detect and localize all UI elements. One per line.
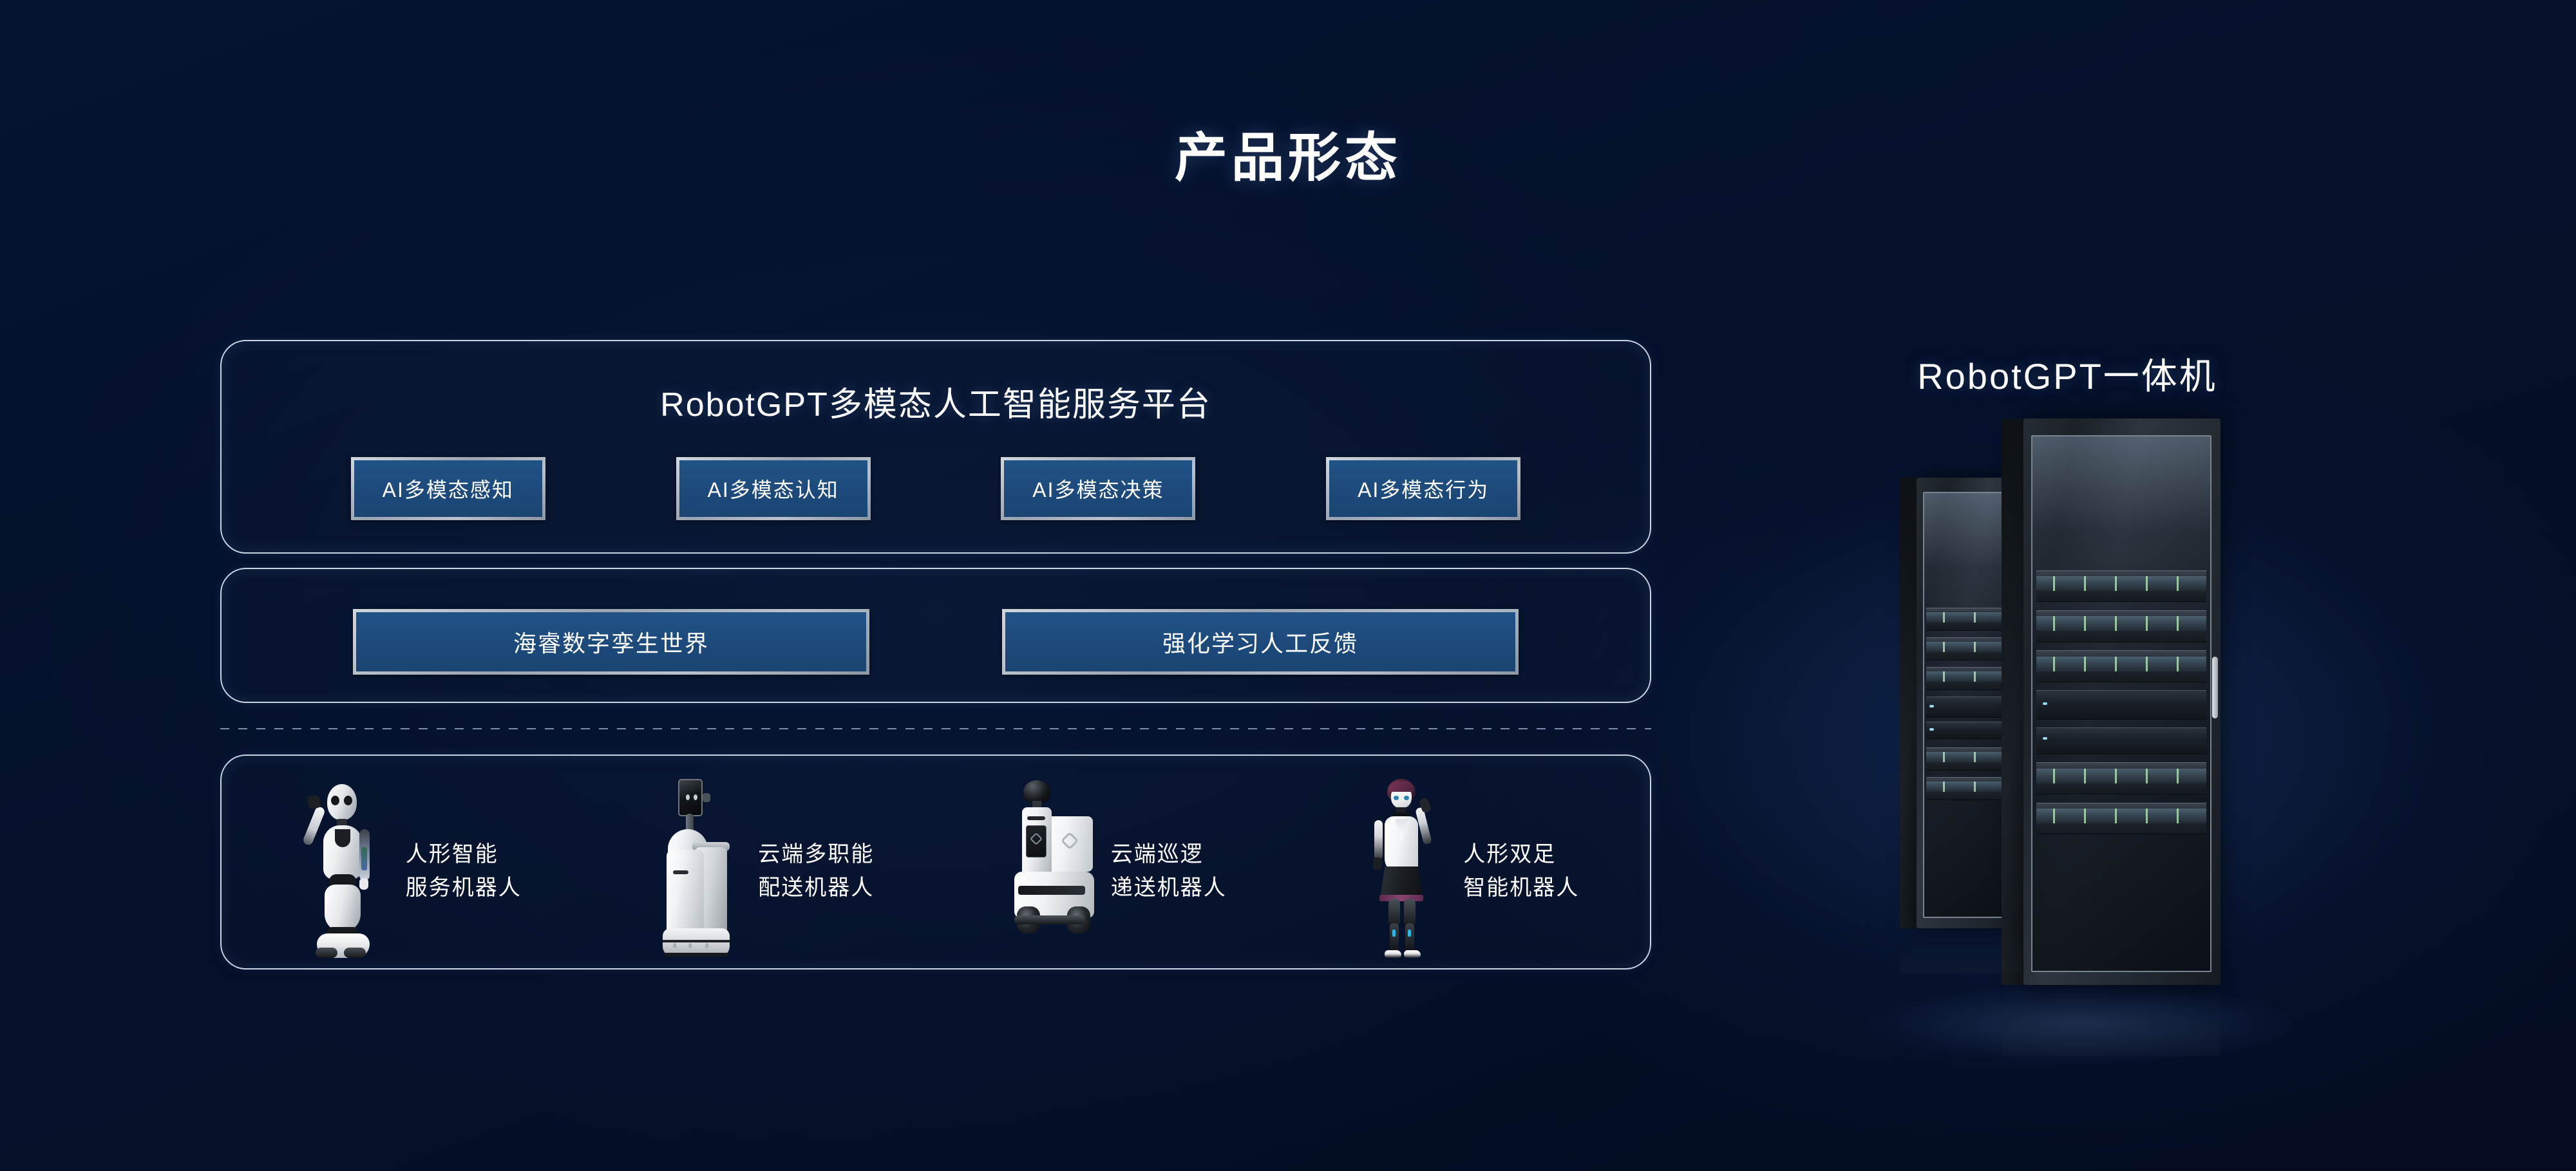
engine-chip-row: 海睿数字孪生世界 强化学习人工反馈 bbox=[220, 609, 1651, 675]
robot-item-bipedal-humanoid[interactable]: 人形双足 智能机器人 bbox=[1290, 761, 1643, 963]
bipedal-humanoid-robot-icon bbox=[1352, 770, 1449, 957]
capability-chip-cognition[interactable]: AI多模态认知 bbox=[676, 457, 871, 520]
platform-title: RobotGPT多模态人工智能服务平台 bbox=[220, 377, 1651, 426]
robot-label: 云端巡逻 递送机器人 bbox=[1111, 838, 1227, 957]
humanoid-service-robot-icon bbox=[295, 770, 392, 957]
robot-label-line1: 云端多职能 bbox=[758, 838, 874, 872]
page-title: 产品形态 bbox=[0, 115, 2576, 191]
robot-list: 人形智能 服务机器人 8 8 8 云端多职能 配送机器人 bbox=[232, 761, 1642, 963]
cloud-delivery-robot-icon: 8 8 8 bbox=[647, 770, 744, 957]
robot-label: 人形双足 智能机器人 bbox=[1463, 838, 1579, 957]
appliance-title: RobotGPT一体机 bbox=[1823, 348, 2312, 400]
robot-label-line1: 云端巡逻 bbox=[1111, 838, 1227, 872]
robot-label-line2: 智能机器人 bbox=[1463, 871, 1579, 905]
server-rack-icon bbox=[1893, 418, 2267, 1049]
robot-label: 人形智能 服务机器人 bbox=[406, 838, 522, 957]
capability-chip-behavior[interactable]: AI多模态行为 bbox=[1326, 457, 1520, 520]
robot-label-line2: 配送机器人 bbox=[758, 871, 874, 905]
robot-item-cloud-delivery[interactable]: 8 8 8 云端多职能 配送机器人 bbox=[585, 761, 938, 963]
engine-chip-rlhf[interactable]: 强化学习人工反馈 bbox=[1002, 609, 1519, 675]
section-divider bbox=[220, 728, 1651, 729]
robot-label-line1: 人形智能 bbox=[406, 838, 522, 872]
robot-label-line2: 递送机器人 bbox=[1111, 871, 1227, 905]
capability-chip-row: AI多模态感知 AI多模态认知 AI多模态决策 AI多模态行为 bbox=[220, 457, 1651, 520]
engine-chip-digital-twin[interactable]: 海睿数字孪生世界 bbox=[353, 609, 869, 675]
cloud-patrol-robot-icon bbox=[1000, 770, 1097, 957]
robot-item-humanoid-service[interactable]: 人形智能 服务机器人 bbox=[232, 761, 585, 963]
robot-label: 云端多职能 配送机器人 bbox=[758, 838, 874, 957]
robot-label-line1: 人形双足 bbox=[1463, 838, 1579, 872]
capability-chip-perception[interactable]: AI多模态感知 bbox=[351, 457, 545, 520]
platform-panel bbox=[220, 340, 1651, 554]
capability-chip-decision[interactable]: AI多模态决策 bbox=[1001, 457, 1195, 520]
server-rack-primary bbox=[2002, 418, 2221, 985]
robot-label-line2: 服务机器人 bbox=[406, 871, 522, 905]
robot-item-cloud-patrol[interactable]: 云端巡逻 递送机器人 bbox=[937, 761, 1290, 963]
